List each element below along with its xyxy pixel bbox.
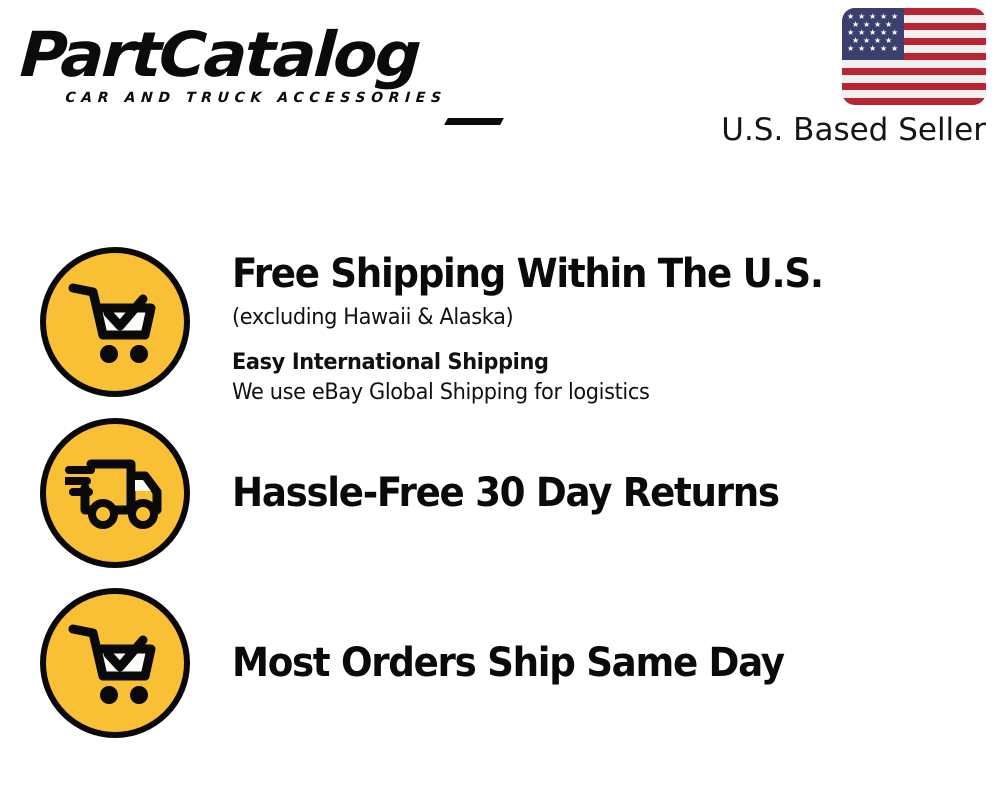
feature-heading: Most Orders Ship Same Day <box>232 640 928 686</box>
seller-badge-label: U.S. Based Seller <box>716 112 986 148</box>
us-based-seller-badge: ★ ★ ★ ★ ★ ★ ★ ★ ★ ★ ★ ★ ★ ★ ★ ★ ★ ★ ★ ★ <box>716 8 986 148</box>
feature-subline: We use eBay Global Shipping for logistic… <box>232 378 943 408</box>
brand-logo[interactable]: PartCatalog CAR AND TRUCK ACCESSORIES <box>22 24 492 116</box>
feature-subline: (excluding Hawaii & Alaska) <box>232 303 943 333</box>
flag-canton: ★ ★ ★ ★ ★ ★ ★ ★ ★ ★ ★ ★ ★ ★ ★ ★ ★ ★ ★ ★ <box>842 8 904 60</box>
feature-text-block: Free Shipping Within The U.S. (excluding… <box>190 247 980 408</box>
feature-heading: Free Shipping Within The U.S. <box>232 251 928 297</box>
feature-row: Most Orders Ship Same Day <box>40 587 980 739</box>
us-flag-icon: ★ ★ ★ ★ ★ ★ ★ ★ ★ ★ ★ ★ ★ ★ ★ ★ ★ ★ ★ ★ <box>842 8 986 105</box>
feature-text-block: Most Orders Ship Same Day <box>190 640 980 686</box>
feature-row: Free Shipping Within The U.S. (excluding… <box>40 247 980 399</box>
shopping-cart-check-icon <box>40 247 190 397</box>
feature-subline-bold: Easy International Shipping <box>232 349 943 377</box>
feature-heading: Hassle-Free 30 Day Returns <box>232 470 928 516</box>
brand-wordmark: PartCatalog <box>19 24 511 86</box>
delivery-truck-icon <box>40 418 190 568</box>
shopping-cart-check-icon <box>40 588 190 738</box>
page-header: PartCatalog CAR AND TRUCK ACCESSORIES ★ … <box>0 0 1000 175</box>
brand-underline-swoosh <box>444 118 504 125</box>
feature-list: Free Shipping Within The U.S. (excluding… <box>0 175 1000 800</box>
feature-row: Hassle-Free 30 Day Returns <box>40 417 980 569</box>
feature-text-block: Hassle-Free 30 Day Returns <box>190 470 980 516</box>
brand-tagline: CAR AND TRUCK ACCESSORIES <box>65 90 492 106</box>
